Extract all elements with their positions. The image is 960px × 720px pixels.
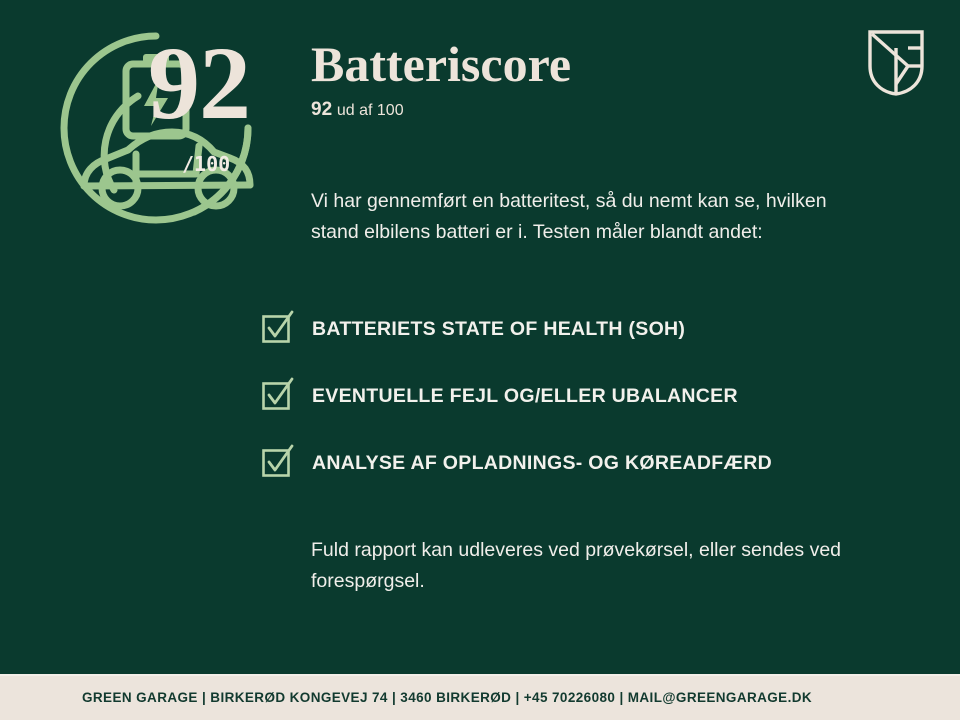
checklist-item: BATTERIETS STATE OF HEALTH (SOH) bbox=[260, 308, 880, 375]
checklist-item: ANALYSE AF OPLADNINGS- OG KØREADFÆRD bbox=[260, 442, 880, 509]
subtitle-rest: ud af 100 bbox=[337, 102, 404, 119]
checklist-item-label: ANALYSE AF OPLADNINGS- OG KØREADFÆRD bbox=[312, 452, 772, 475]
checklist-item-label: EVENTUELLE FEJL OG/ELLER UBALANCER bbox=[312, 385, 738, 408]
header-block: Batteriscore 92 ud af 100 bbox=[311, 36, 911, 121]
subtitle-score: 92 bbox=[311, 99, 332, 120]
battery-score-infographic: 92 /100 Batteriscore 92 ud af 100 Vi har… bbox=[0, 0, 960, 720]
checklist: BATTERIETS STATE OF HEALTH (SOH) EVENTUE… bbox=[260, 308, 880, 509]
checklist-item: EVENTUELLE FEJL OG/ELLER UBALANCER bbox=[260, 375, 880, 442]
checkbox-checked-icon bbox=[260, 310, 294, 344]
outro-paragraph: Fuld rapport kan udleveres ved prøvekørs… bbox=[311, 535, 851, 597]
intro-paragraph: Vi har gennemført en batteritest, så du … bbox=[311, 186, 841, 248]
checkbox-checked-icon bbox=[260, 444, 294, 478]
checklist-item-label: BATTERIETS STATE OF HEALTH (SOH) bbox=[312, 318, 685, 341]
badge-denominator: /100 bbox=[182, 152, 230, 176]
badge-score-value: 92 bbox=[148, 32, 298, 136]
score-badge: 92 /100 bbox=[44, 22, 284, 232]
footer-contact-line: GREEN GARAGE | BIRKERØD KONGEVEJ 74 | 34… bbox=[82, 676, 812, 720]
checkbox-checked-icon bbox=[260, 377, 294, 411]
page-title: Batteriscore bbox=[311, 36, 911, 92]
score-subtitle: 92 ud af 100 bbox=[311, 100, 911, 121]
footer-bar: GREEN GARAGE | BIRKERØD KONGEVEJ 74 | 34… bbox=[0, 674, 960, 720]
